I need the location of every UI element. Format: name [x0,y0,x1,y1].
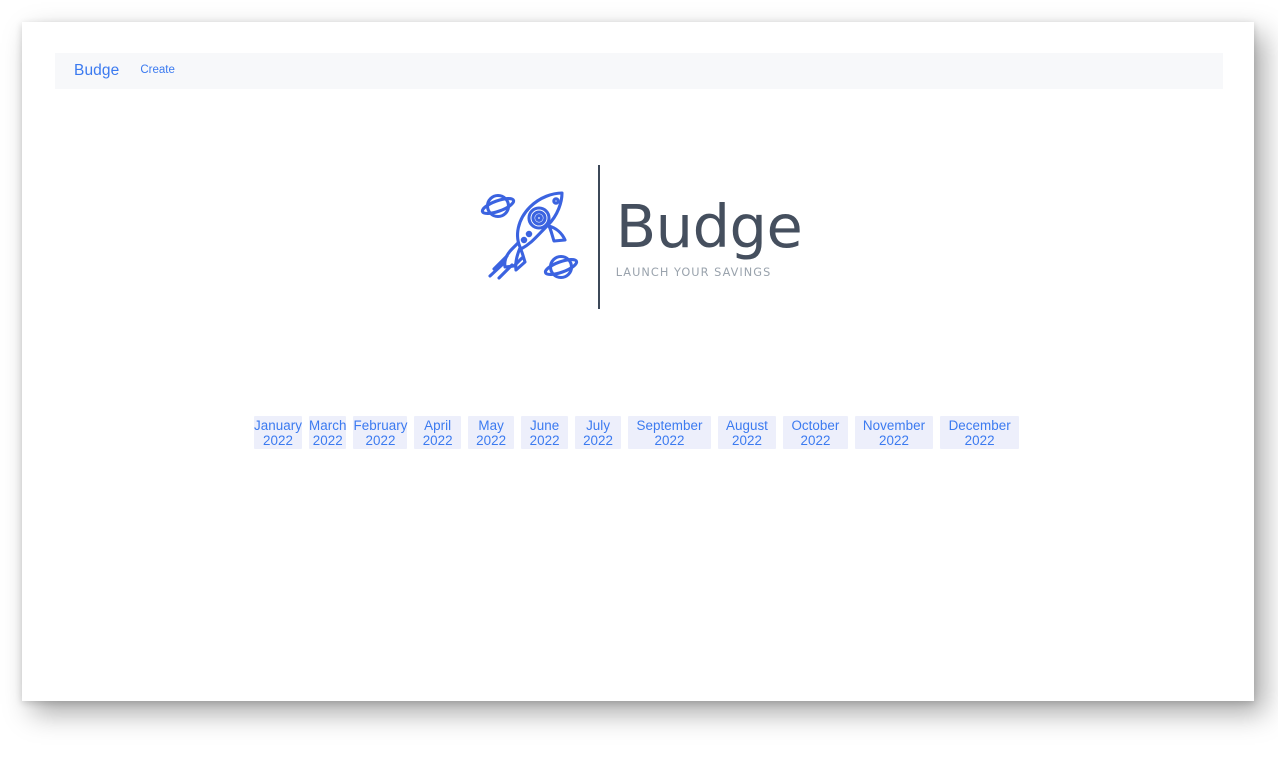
month-button[interactable]: September 2022 [628,416,710,449]
app-card: Budge Create [22,22,1254,701]
logo-divider [598,165,600,309]
month-button[interactable]: February 2022 [353,416,407,449]
month-grid: January 2022March 2022February 2022April… [254,416,1019,449]
logo-wordmark: Budge [616,199,803,255]
nav-link-create[interactable]: Create [140,65,175,77]
page-root: Budge Create [0,0,1278,766]
navbar: Budge Create [55,53,1223,89]
month-button[interactable]: October 2022 [783,416,847,449]
month-button[interactable]: July 2022 [575,416,621,449]
month-button[interactable]: November 2022 [855,416,934,449]
rocket-planets-icon [474,181,586,293]
month-button[interactable]: December 2022 [940,416,1019,449]
month-button[interactable]: January 2022 [254,416,302,449]
navbar-brand-budge[interactable]: Budge [74,63,119,79]
month-button[interactable]: May 2022 [468,416,514,449]
month-button[interactable]: March 2022 [309,416,346,449]
logo-tagline: LAUNCH YOUR SAVINGS [616,266,803,279]
logo: Budge LAUNCH YOUR SAVINGS [474,165,803,309]
month-button[interactable]: April 2022 [414,416,460,449]
month-button[interactable]: June 2022 [521,416,567,449]
logo-text-block: Budge LAUNCH YOUR SAVINGS [616,195,803,278]
logo-section: Budge LAUNCH YOUR SAVINGS [22,165,1254,309]
month-button[interactable]: August 2022 [718,416,776,449]
